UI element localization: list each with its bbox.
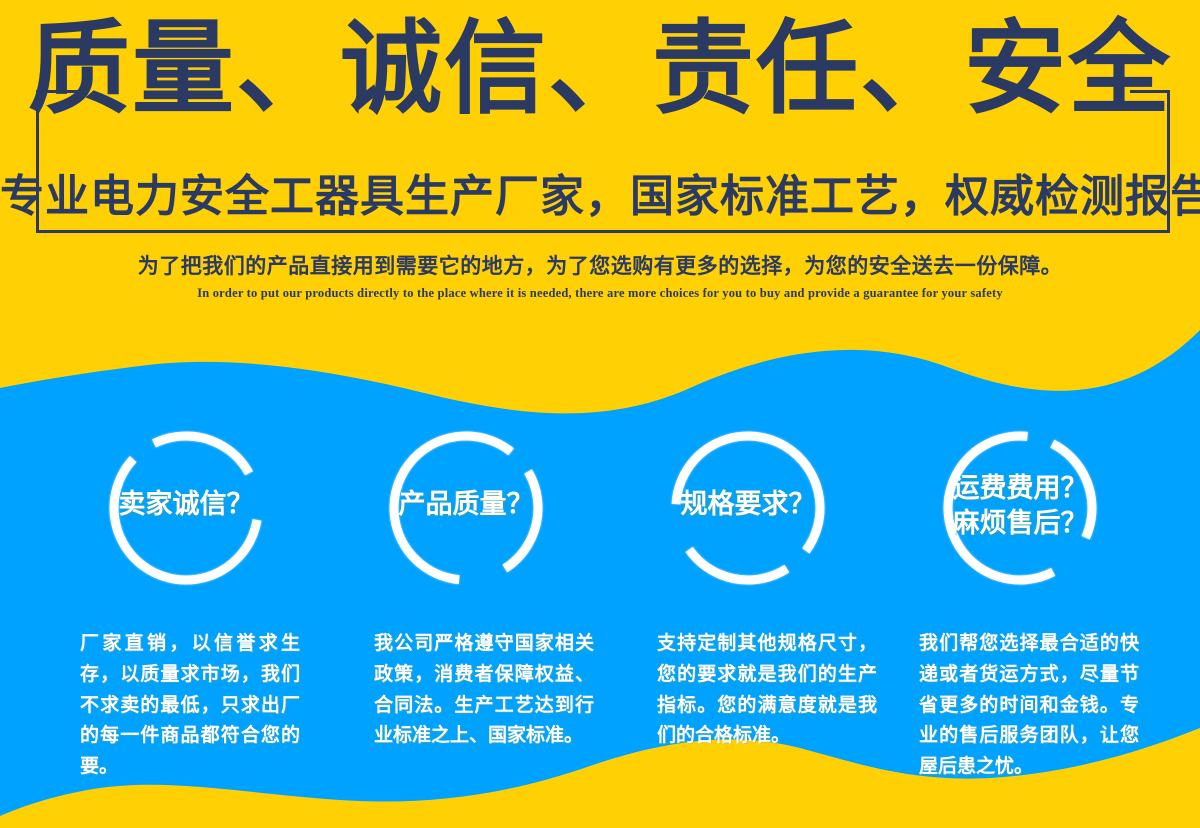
- feature-title: 产品质量？: [351, 487, 581, 522]
- feature-title: 运费费用？ 麻烦售后？: [905, 471, 1135, 540]
- poster-canvas: 质量、诚信、责任、安全 专业电力安全工器具生产厂家，国家标准工艺，权威检测报告 …: [0, 0, 1200, 828]
- feature-description: 我们帮您选择最合适的快递或者货运方式，尽量节省更多的时间和金钱。专业的售后服务团…: [919, 629, 1139, 783]
- features-section: 卖家诚信？ 厂家直销，以信誉求生存，以质量求市场，我们不求卖的最低，只求出厂的每…: [0, 0, 1200, 828]
- feature-description: 我公司严格遵守国家相关政策，消费者保障权益、合同法。生产工艺达到行业标准之上、国…: [374, 629, 594, 752]
- feature-title: 规格要求？: [633, 487, 863, 522]
- feature-title-line: 麻烦售后？: [905, 506, 1135, 541]
- feature-title: 卖家诚信？: [71, 487, 301, 522]
- feature-description: 厂家直销，以信誉求生存，以质量求市场，我们不求卖的最低，只求出厂的每一件商品都符…: [80, 629, 300, 783]
- feature-description: 支持定制其他规格尺寸，您的要求就是我们的生产指标。您的满意度就是我们的合格标准。: [657, 629, 877, 752]
- feature-title-line: 运费费用？: [905, 471, 1135, 506]
- feature-title-line: 产品质量？: [351, 487, 581, 522]
- feature-title-line: 卖家诚信？: [71, 487, 301, 522]
- feature-title-line: 规格要求？: [633, 487, 863, 522]
